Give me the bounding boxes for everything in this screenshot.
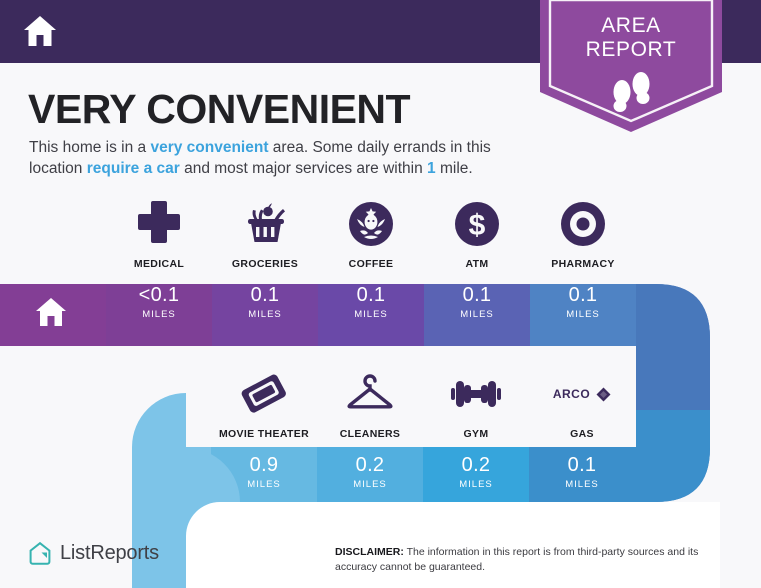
listreports-house-icon: [28, 541, 52, 566]
distance-value: 0.2: [423, 455, 529, 475]
home-icon: [22, 14, 58, 48]
distance-unit: MILES: [529, 479, 635, 490]
distance-unit: MILES: [424, 309, 530, 320]
distance-cell: 0.2 MILES: [317, 455, 423, 490]
listreports-logo[interactable]: ListReports: [28, 541, 159, 566]
distance-unit: MILES: [423, 479, 529, 490]
distance-value: 0.9: [211, 455, 317, 475]
distance-cell: <0.1 MILES: [106, 285, 212, 320]
distance-values-row-1: <0.1 MILES 0.1 MILES 0.1 MILES 0.1 MILES…: [106, 285, 636, 320]
listreports-wordmark: ListReports: [60, 542, 159, 565]
distance-unit: MILES: [318, 309, 424, 320]
distance-unit: MILES: [530, 309, 636, 320]
distance-unit: MILES: [317, 479, 423, 490]
distance-cell: 0.1 MILES: [530, 285, 636, 320]
home-icon: [34, 296, 68, 328]
area-report-badge: AREA REPORT: [540, 0, 722, 132]
distance-unit: MILES: [212, 309, 318, 320]
badge-line-2: REPORT: [540, 38, 722, 62]
distance-cell: 0.1 MILES: [529, 455, 635, 490]
distance-value: 0.1: [530, 285, 636, 305]
disclaimer-label: DISCLAIMER:: [335, 546, 404, 558]
distance-unit: MILES: [106, 309, 212, 320]
distance-value: <0.1: [106, 285, 212, 305]
distance-values-row-2: 0.9 MILES 0.2 MILES 0.2 MILES 0.1 MILES: [211, 455, 635, 490]
distance-cell: 0.1 MILES: [424, 285, 530, 320]
distance-value: 0.1: [318, 285, 424, 305]
distance-cell: 0.1 MILES: [318, 285, 424, 320]
badge-line-1: AREA: [540, 14, 722, 38]
distance-cell: 0.2 MILES: [423, 455, 529, 490]
disclaimer: DISCLAIMER: The information in this repo…: [335, 545, 735, 575]
distance-value: 0.1: [212, 285, 318, 305]
distance-cell: 0.1 MILES: [212, 285, 318, 320]
distance-value: 0.1: [424, 285, 530, 305]
badge-title: AREA REPORT: [540, 14, 722, 61]
distance-cell: 0.9 MILES: [211, 455, 317, 490]
distance-unit: MILES: [211, 479, 317, 490]
area-report-page: 4400 SOUTHWEST 110TH AVENUE, BEAVERTON, …: [0, 0, 761, 588]
distance-value: 0.1: [529, 455, 635, 475]
distance-value: 0.2: [317, 455, 423, 475]
